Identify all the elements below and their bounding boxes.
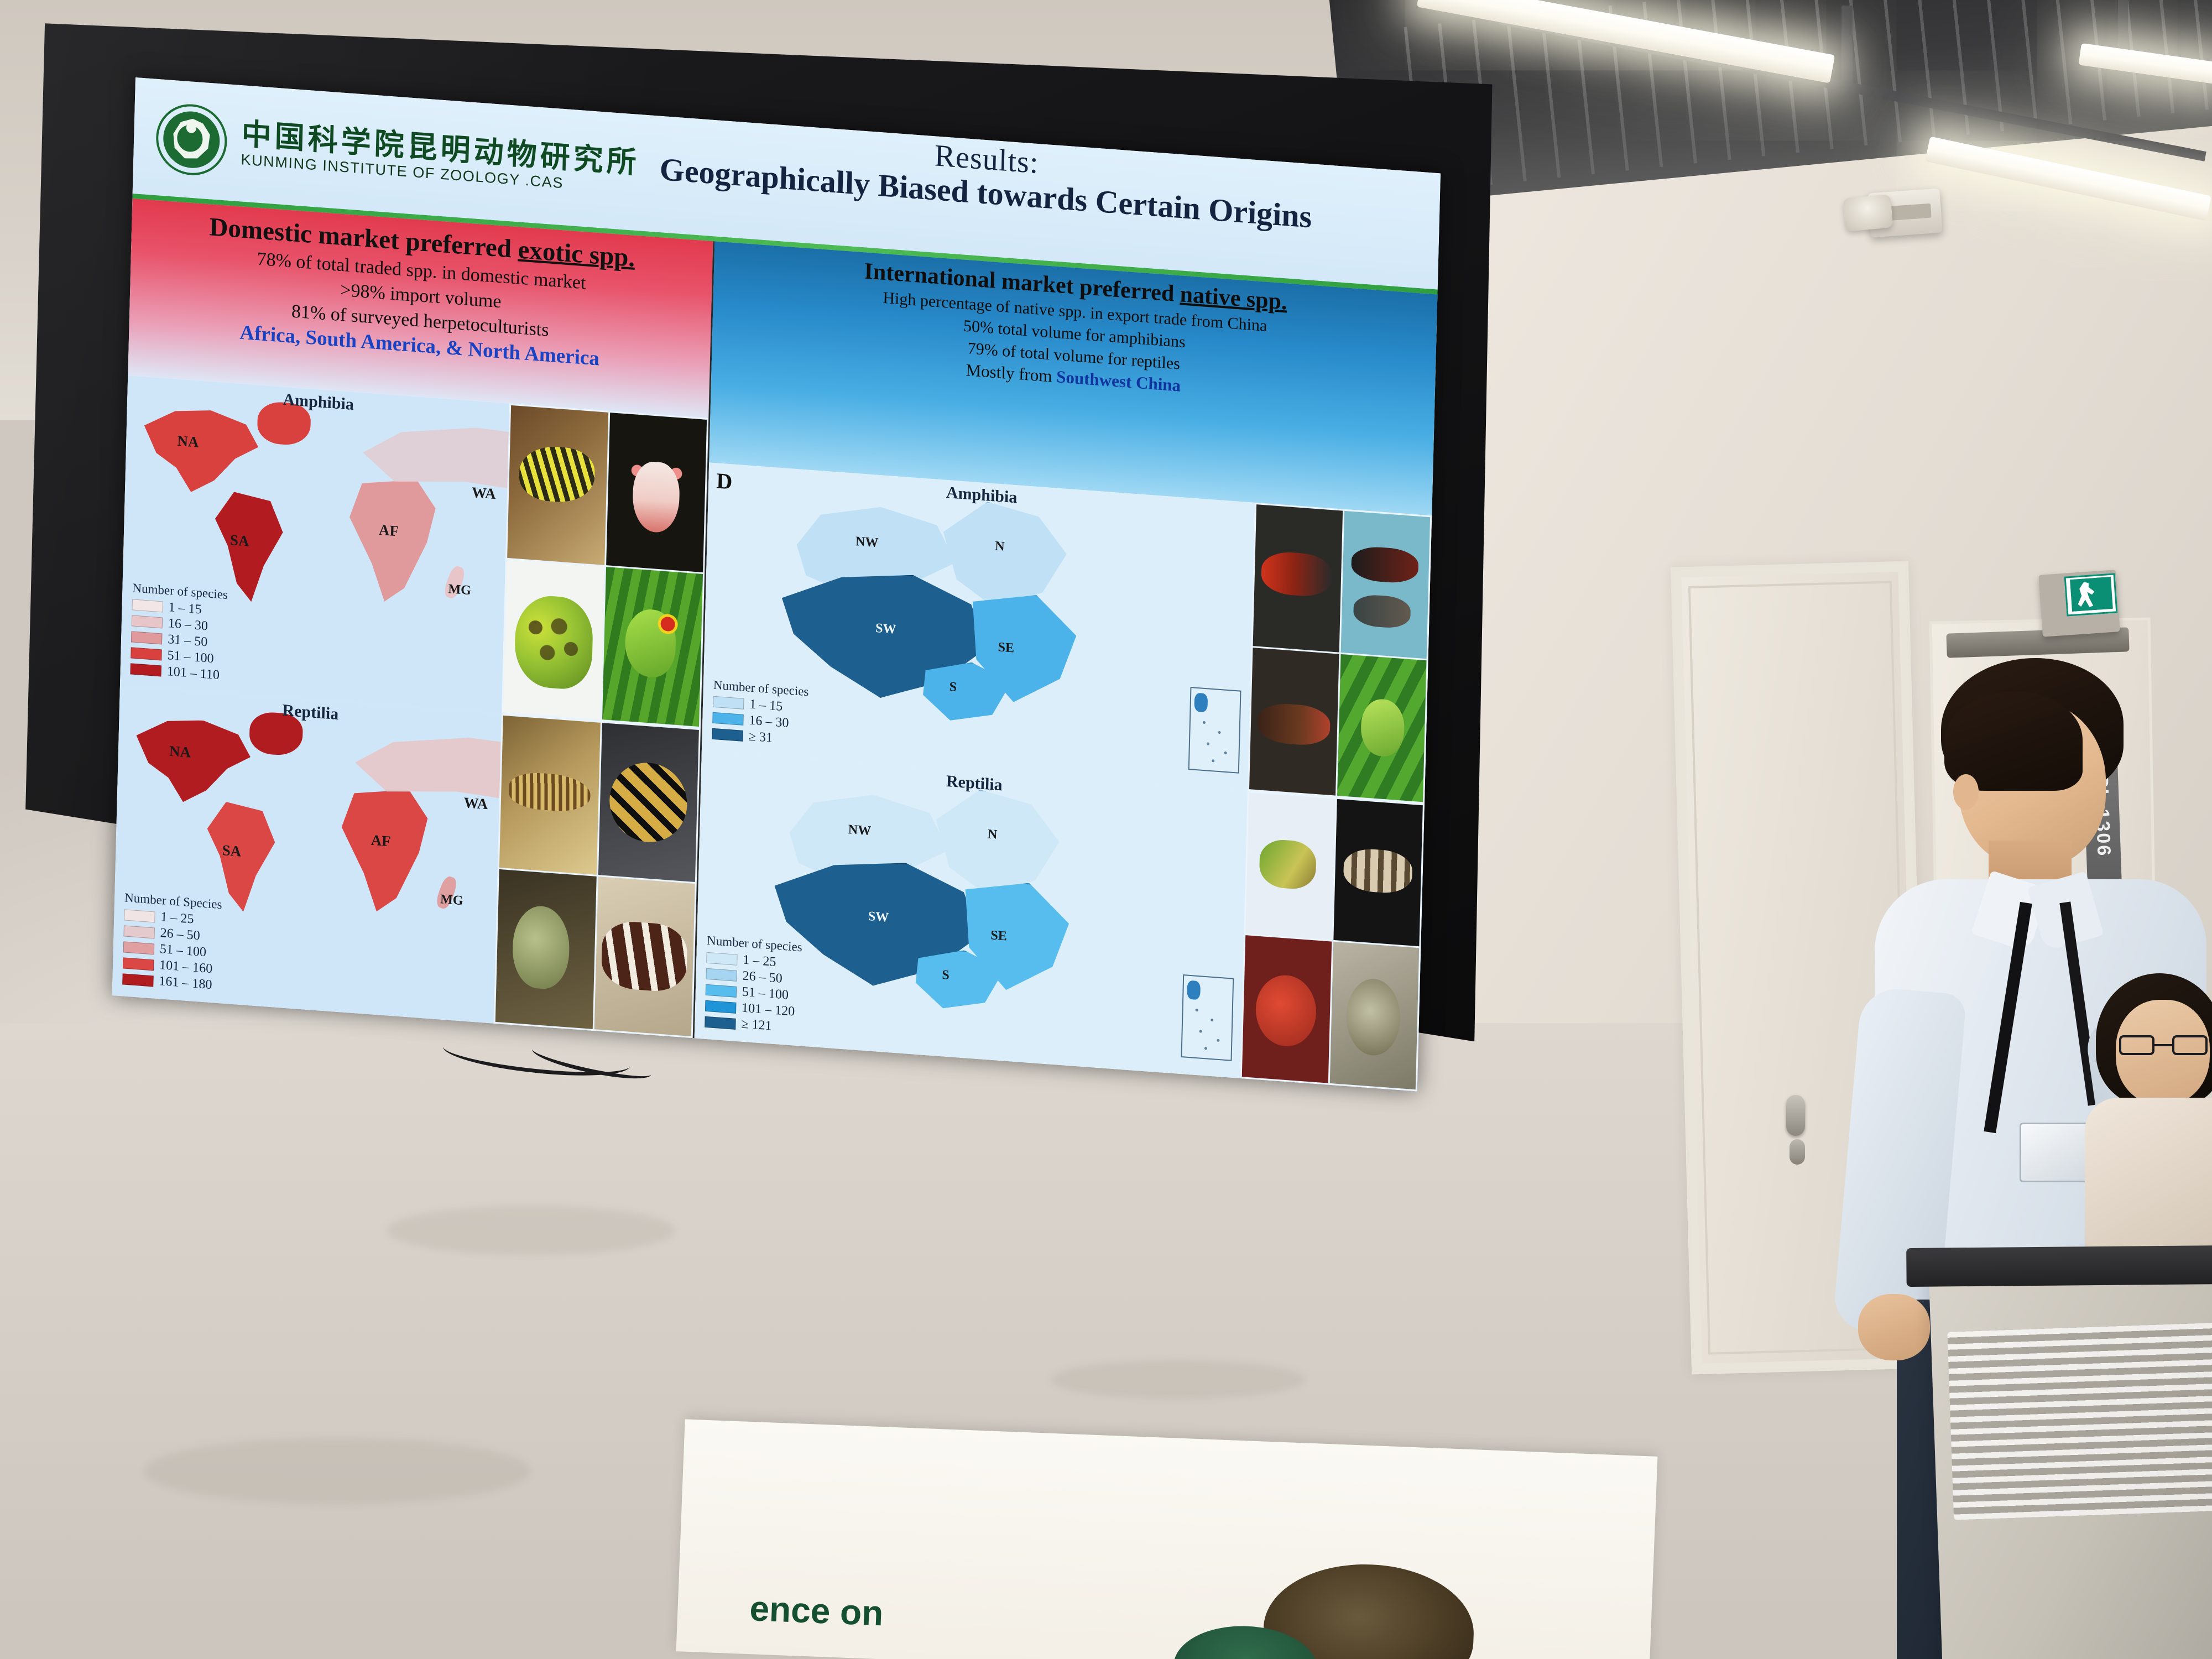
legend-swatch — [131, 647, 162, 660]
photo-red-snake — [1242, 935, 1332, 1083]
photo-ball-python — [598, 723, 699, 883]
legend-swatch — [706, 984, 737, 997]
ceiling-beam — [1841, 6, 1853, 94]
china-reptilia-legend: Number of species 1 – 25 26 – 50 51 – 10… — [705, 933, 802, 1037]
china-label-nw: NW — [848, 822, 871, 839]
legend-label: 1 – 15 — [749, 697, 783, 714]
lectern — [1929, 1261, 2212, 1659]
china-label-s: S — [942, 968, 950, 983]
continent-africa — [333, 785, 434, 916]
china-amphibia-map[interactable]: Amphibia NW N SW SE — [702, 462, 1255, 790]
region-label-na: NA — [169, 742, 191, 761]
china-reptilia-map[interactable]: Reptilia NW N SW SE — [695, 750, 1248, 1078]
legend-swatch — [131, 631, 163, 644]
photo-milk-snake — [594, 877, 695, 1036]
region-label-wa: WA — [472, 484, 496, 503]
china-amphibia-legend: Number of species 1 – 15 16 – 30 ≥ 31 — [712, 677, 808, 749]
china-label-s: S — [949, 680, 957, 695]
lecture-room-scene: 中国科学院昆明动物研究所 KUNMING INSTITUTE OF ZOOLOG… — [0, 0, 2212, 1659]
audience-member — [2085, 973, 2212, 1261]
presentation-slide[interactable]: 中国科学院昆明动物研究所 KUNMING INSTITUTE OF ZOOLOG… — [112, 77, 1441, 1091]
legend-swatch — [123, 925, 155, 938]
photo-mountain-dragon — [1245, 792, 1335, 940]
south-china-sea-inset — [1188, 687, 1241, 774]
smoke-detector-icon — [1843, 194, 1893, 231]
photo-axolotl — [606, 413, 707, 572]
photo-crocodile-newt — [1253, 504, 1343, 652]
legend-swatch — [706, 952, 738, 965]
region-label-na: NA — [177, 432, 199, 451]
region-label-af: AF — [371, 831, 391, 850]
region-label-af: AF — [379, 521, 399, 540]
legend-swatch — [705, 1000, 737, 1013]
legend-swatch — [705, 1016, 736, 1029]
legend-swatch — [123, 957, 154, 971]
legend-swatch — [131, 663, 162, 676]
reptilia-world-map[interactable]: Reptilia NA — [112, 686, 502, 1024]
china-label-se: SE — [998, 640, 1014, 656]
legend-swatch — [122, 973, 154, 987]
china-reptilia-photo-grid — [1240, 790, 1425, 1091]
amphibia-photo-grid — [502, 404, 708, 728]
legend-label: 1 – 25 — [160, 910, 194, 927]
legend-label: ≥ 31 — [748, 729, 773, 745]
amphibia-map-legend: Number of species 1 – 15 16 – 30 31 – 50… — [130, 581, 228, 685]
photo-plated-lizard — [499, 715, 601, 875]
right-column: International market preferred native sp… — [693, 241, 1438, 1091]
legend-label: 101 – 160 — [159, 958, 213, 977]
amphibia-world-map[interactable]: Amphibia — [120, 375, 509, 713]
legend-label: 16 – 30 — [168, 616, 208, 634]
left-column: Domestic market preferred exotic spp. 78… — [112, 199, 713, 1038]
photo-warty-newt — [1249, 648, 1339, 795]
eyeglasses-icon — [2119, 1035, 2208, 1055]
region-label-mg: MG — [448, 582, 471, 598]
china-amphibia-photo-grid — [1248, 503, 1432, 804]
legend-label: 1 – 15 — [168, 600, 202, 617]
photo-green-tree-frog — [1337, 654, 1427, 802]
region-label-sa: SA — [222, 842, 241, 860]
photo-map-turtle — [495, 869, 597, 1029]
legend-label: 101 – 110 — [166, 664, 220, 683]
legend-label: 26 – 50 — [160, 926, 200, 943]
continent-north-america — [127, 715, 257, 807]
banner-text: ence on — [749, 1588, 884, 1634]
china-reptilia-figure: Reptilia NW N SW SE — [695, 750, 1425, 1092]
photo-red-eyed-tree-frog — [602, 567, 703, 727]
legend-label: 161 – 180 — [159, 974, 212, 993]
left-figure-panel: Amphibia — [112, 375, 709, 1038]
legend-label: 51 – 100 — [742, 985, 789, 1003]
legend-label: 51 – 100 — [160, 942, 207, 960]
region-label-wa: WA — [463, 794, 488, 813]
reptilia-photo-grid — [494, 713, 701, 1038]
wall-scuff — [387, 1206, 675, 1255]
legend-swatch — [713, 696, 744, 709]
door-lock[interactable] — [1790, 1139, 1805, 1165]
legend-label: 101 – 120 — [742, 1001, 795, 1020]
photo-banded-gecko — [507, 405, 608, 565]
floor-banner: ence on — [676, 1419, 1658, 1659]
exit-sign-icon — [2038, 570, 2120, 637]
china-label-sw: SW — [868, 909, 889, 926]
slide-body: Domestic market preferred exotic spp. 78… — [112, 199, 1438, 1091]
china-label-n: N — [995, 539, 1005, 555]
continent-north-america — [135, 405, 264, 497]
legend-swatch — [132, 599, 163, 612]
legend-swatch — [123, 941, 155, 954]
china-label-se: SE — [990, 928, 1007, 944]
region-label-mg: MG — [440, 892, 463, 909]
right-figure-panel: D Amphibia NW — [695, 462, 1432, 1091]
reptilia-world-figure: Reptilia NA — [112, 686, 701, 1039]
photo-pond-turtle — [1329, 942, 1419, 1089]
amphibia-world-figure: Amphibia — [120, 375, 708, 728]
legend-swatch — [712, 712, 744, 726]
china-label-sw: SW — [875, 621, 896, 638]
legend-label: 31 – 50 — [168, 632, 208, 650]
legend-label: ≥ 121 — [741, 1017, 772, 1034]
legend-label: 26 – 50 — [742, 969, 782, 987]
china-label-nw: NW — [855, 534, 879, 551]
legend-swatch — [712, 728, 743, 742]
china-amphibia-figure: Amphibia NW N SW SE — [702, 462, 1432, 804]
kunming-institute-logo-icon — [155, 102, 228, 178]
door-handle[interactable] — [1786, 1095, 1805, 1136]
continent-africa — [342, 474, 442, 606]
south-china-sea-inset — [1181, 974, 1234, 1061]
legend-swatch — [132, 615, 163, 628]
region-label-sa: SA — [230, 531, 249, 550]
legend-swatch — [124, 909, 155, 922]
china-label-n: N — [988, 827, 998, 842]
photo-swimming-newt — [1340, 511, 1430, 659]
photo-leopard-gecko — [1333, 799, 1423, 946]
wall-display: 中国科学院昆明动物研究所 KUNMING INSTITUTE OF ZOOLOG… — [0, 0, 1537, 1106]
wall-scuff — [1051, 1360, 1305, 1399]
legend-label: 1 – 25 — [743, 953, 776, 970]
reptilia-map-legend: Number of Species 1 – 25 26 – 50 51 – 10… — [122, 890, 222, 994]
legend-label: 16 – 30 — [749, 713, 789, 731]
photo-horned-frog — [503, 560, 604, 719]
legend-swatch — [706, 968, 737, 981]
wall-scuff — [144, 1438, 531, 1504]
banner-turtle-graphic — [1261, 1561, 1476, 1659]
legend-label: 51 – 100 — [167, 648, 214, 666]
